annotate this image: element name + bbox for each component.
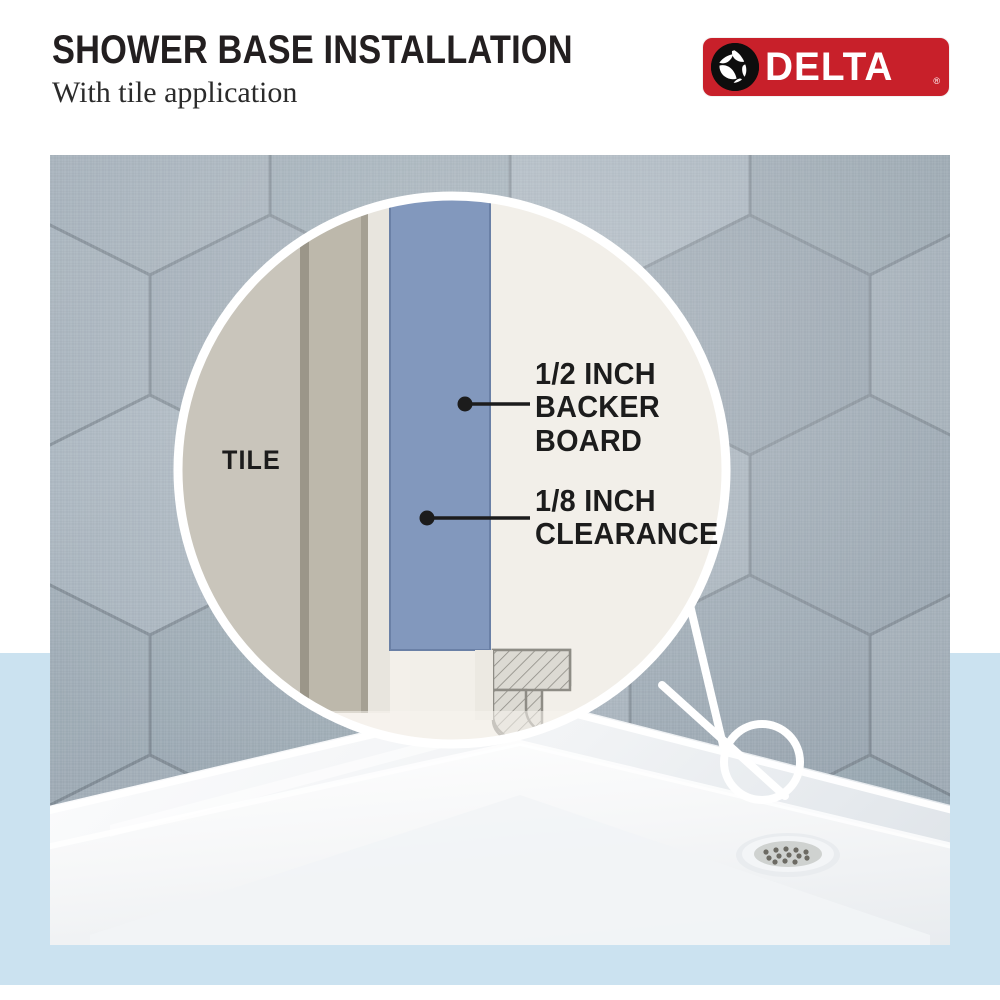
- page-title: SHOWER BASE INSTALLATION: [52, 28, 573, 73]
- installation-illustration: [50, 155, 950, 945]
- layer-backer-board: [390, 185, 490, 650]
- delta-triangle-mark-icon: [711, 43, 759, 91]
- clearance-gap: [475, 650, 493, 720]
- layer-thinset: [300, 185, 309, 713]
- delta-wordmark: DELTA: [765, 44, 893, 90]
- delta-trademark: ®: [933, 77, 940, 86]
- delta-logo: DELTA ®: [703, 38, 949, 96]
- page-subtitle: With tile application: [52, 76, 297, 110]
- header: SHOWER BASE INSTALLATION With tile appli…: [0, 0, 1000, 150]
- label-backer-board: 1/2 INCH BACKER BOARD: [535, 357, 660, 457]
- layer-mortar-bed: [309, 185, 361, 713]
- drain-grate: [736, 833, 840, 877]
- label-clearance: 1/8 INCH CLEARANCE: [535, 484, 719, 551]
- poster-root: SHOWER BASE INSTALLATION With tile appli…: [0, 0, 1000, 1000]
- photo-scene: [50, 155, 950, 945]
- label-tile: TILE: [222, 446, 281, 475]
